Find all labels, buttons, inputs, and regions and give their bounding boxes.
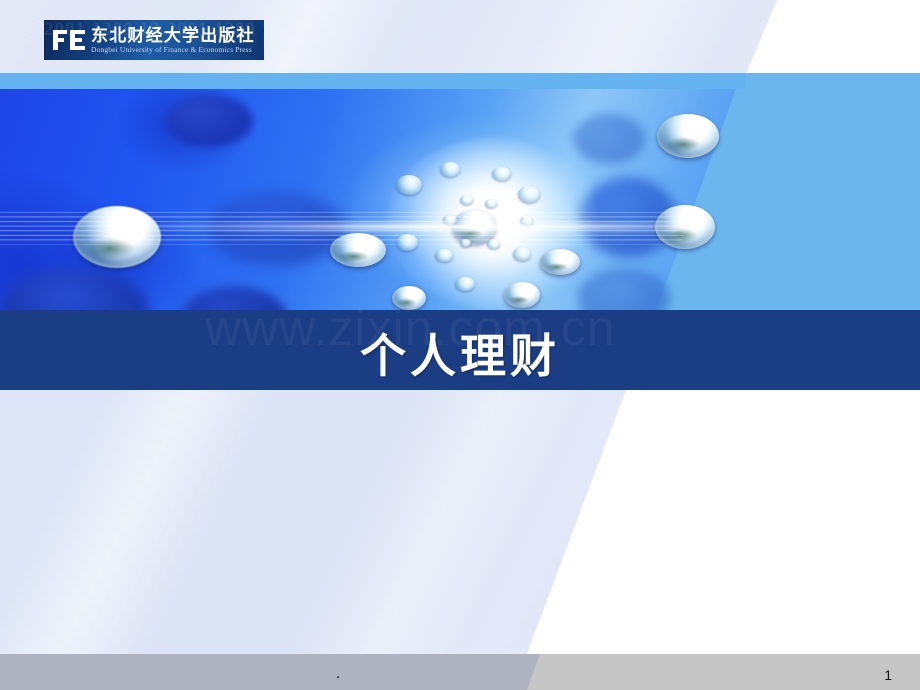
banner-image <box>0 89 920 311</box>
publisher-name-cn: 东北财经大学出版社 <box>91 26 255 45</box>
slide-title: 个人理财 <box>0 328 920 384</box>
fe-monogram-icon <box>52 29 86 51</box>
presentation-slide: 2001 1209 12 2001 1209 12 东北财经大学出版社 Dong… <box>0 0 920 690</box>
header-accent-strip-right <box>746 73 920 90</box>
banner-photo-gradient <box>0 89 920 311</box>
publisher-logo: 2001 1209 12 2001 1209 12 东北财经大学出版社 Dong… <box>44 20 264 60</box>
publisher-name-en: Dongbei University of Finance & Economic… <box>91 45 255 54</box>
footer-dot: . <box>330 663 346 683</box>
page-number: 1 <box>884 666 892 684</box>
